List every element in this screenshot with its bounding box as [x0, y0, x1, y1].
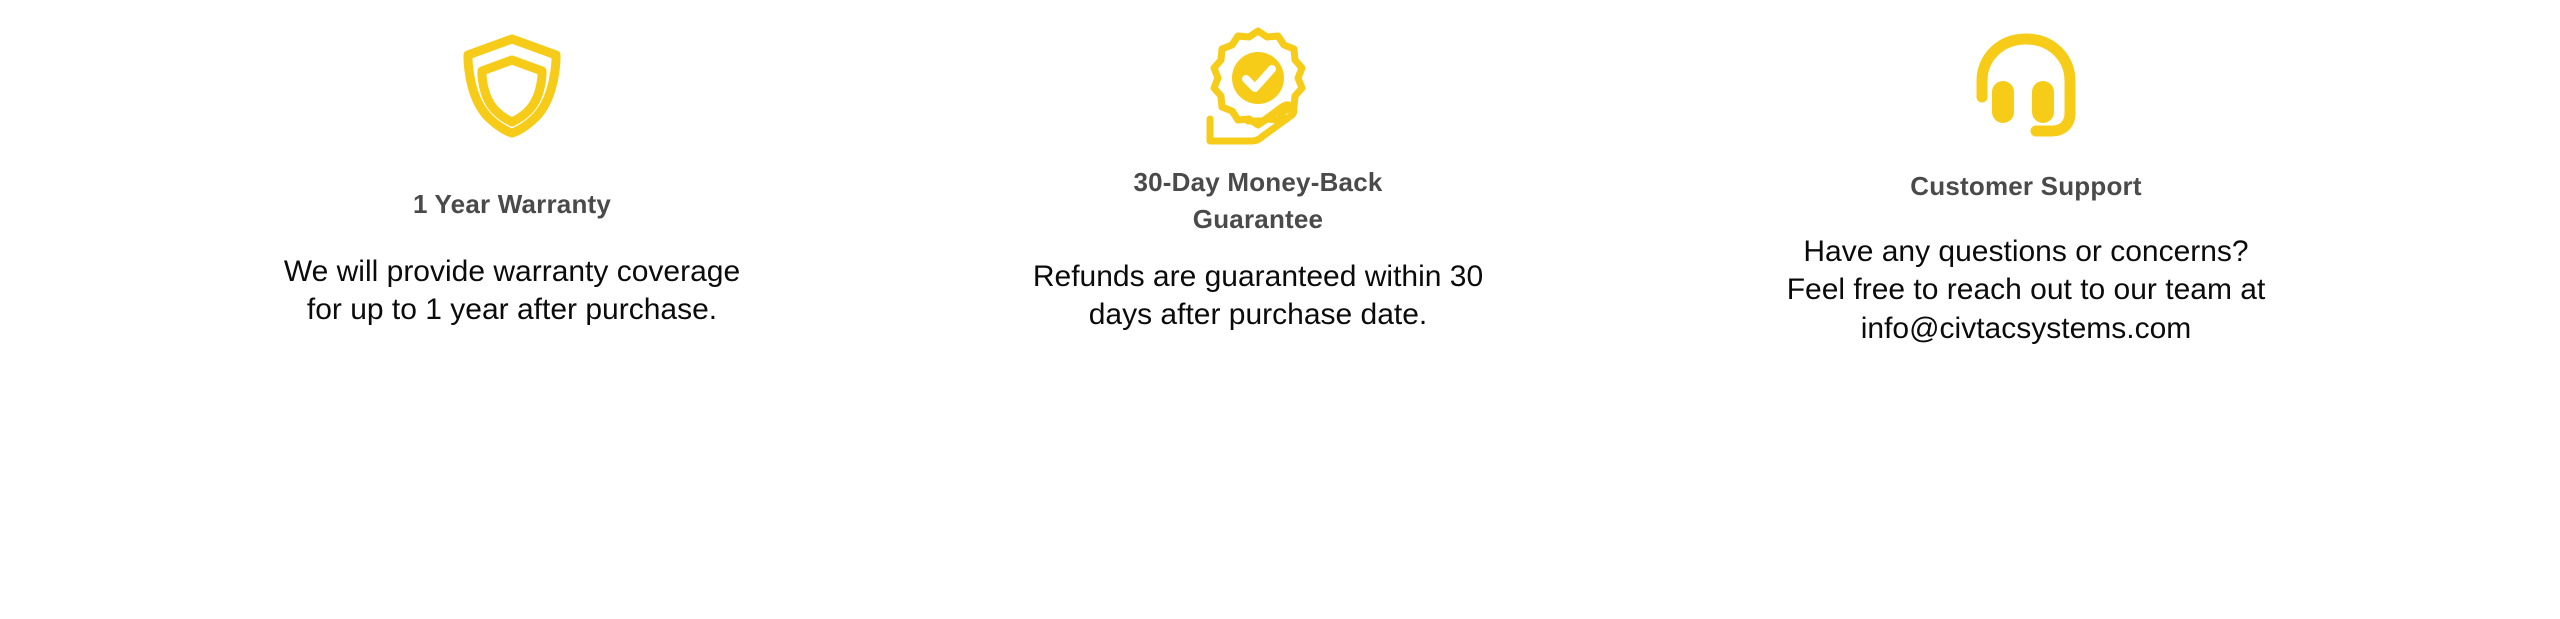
feature-description: Have any questions or concerns? Feel fre…: [1787, 233, 2266, 348]
headset-icon: [1970, 26, 2082, 144]
shield-icon: [456, 26, 568, 144]
trust-badges-strip: 1 Year Warranty We will provide warranty…: [0, 0, 2560, 619]
feature-title: Customer Support: [1910, 168, 2141, 205]
feature-column-warranty: 1 Year Warranty We will provide warranty…: [0, 0, 1024, 330]
feature-column-support: Customer Support Have any questions or c…: [1492, 0, 2560, 348]
badge-check-in-hand-icon: [1200, 26, 1316, 146]
feature-description: Refunds are guaranteed within 30 days af…: [1033, 258, 1483, 335]
feature-description: We will provide warranty coverage for up…: [284, 253, 740, 330]
feature-title: 30-Day Money-Back Guarantee: [1108, 164, 1408, 238]
feature-title: 1 Year Warranty: [413, 186, 611, 223]
feature-column-guarantee: 30-Day Money-Back Guarantee Refunds are …: [1024, 0, 1492, 335]
